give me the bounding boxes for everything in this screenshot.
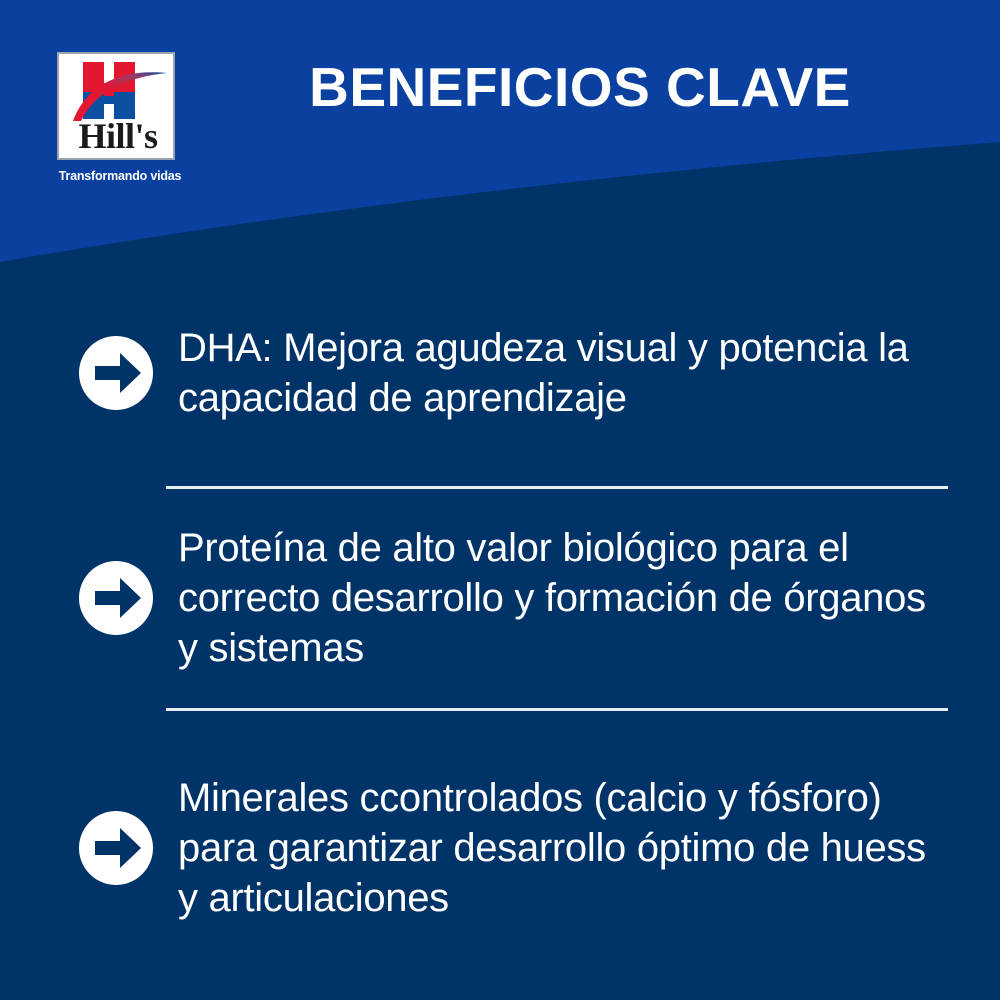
benefit-text: Minerales ccontrolados (calcio y fósforo… [178,773,1000,923]
arrow-right-circle-icon [79,811,153,885]
benefit-item-proteina: Proteína de alto valor biológico para el… [0,510,1000,685]
promo-graphic: Hill's Transformando vidas BENEFICIOS CL… [0,0,1000,1000]
brand-logo: Hill's Transformando vidas [57,52,183,183]
page-title: BENEFICIOS CLAVE [210,60,950,115]
benefit-item-minerales: Minerales ccontrolados (calcio y fósforo… [0,760,1000,935]
benefit-text: Proteína de alto valor biológico para el… [178,523,1000,673]
arrow-right-circle-icon [79,336,153,410]
logo-card: Hill's [57,52,175,160]
arrow-right-circle-icon [79,561,153,635]
logo-tagline: Transformando vidas [57,169,183,183]
header: Hill's Transformando vidas BENEFICIOS CL… [0,0,1000,200]
logo-wordmark: Hill's [59,116,177,156]
benefit-item-dha: DHA: Mejora agudeza visual y potencia la… [0,285,1000,460]
hills-h-mark-icon [67,59,169,121]
benefit-divider [166,486,948,489]
benefit-text: DHA: Mejora agudeza visual y potencia la… [178,323,1000,423]
benefit-divider [166,708,948,711]
